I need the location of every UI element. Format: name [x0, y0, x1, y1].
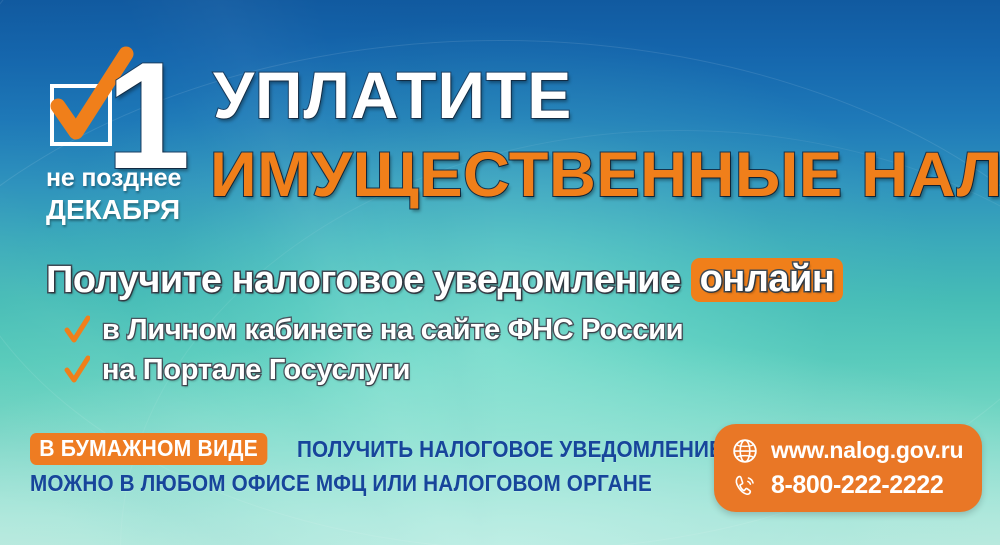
tax-payment-banner: 1 не позднее ДЕКАБРЯ УПЛАТИТЕ ИМУЩЕСТВЕН… [0, 0, 1000, 545]
online-highlight-badge: онлайн [691, 258, 844, 302]
online-channels-list: в Личном кабинете на сайте ФНС России на… [64, 312, 683, 392]
paper-notice-line-1: В БУМАЖНОМ ВИДЕ ПОЛУЧИТЬ НАЛОГОВОЕ УВЕДО… [30, 432, 670, 466]
deadline-line-2: ДЕКАБРЯ [46, 194, 180, 226]
deadline-block: 1 не позднее ДЕКАБРЯ [44, 52, 234, 232]
website-url[interactable]: www.nalog.gov.ru [771, 437, 963, 464]
paper-notice-line-1-text: ПОЛУЧИТЬ НАЛОГОВОЕ УВЕДОМЛЕНИЕ [297, 438, 723, 461]
phone-call-icon [732, 473, 758, 499]
list-item: на Портале Госуслуги [64, 352, 683, 388]
website-row[interactable]: www.nalog.gov.ru [732, 433, 982, 468]
globe-icon [732, 438, 758, 464]
phone-number[interactable]: 8-800-222-2222 [771, 471, 943, 500]
paper-notice-line-2: МОЖНО В ЛЮБОМ ОФИСЕ МФЦ ИЛИ НАЛОГОВОМ ОР… [30, 466, 670, 500]
deadline-line-1: не позднее [46, 164, 181, 193]
headline-line-1: УПЛАТИТЕ [213, 62, 572, 128]
paper-notice-line-2-text: МОЖНО В ЛЮБОМ ОФИСЕ МФЦ ИЛИ НАЛОГОВОМ ОР… [30, 472, 652, 495]
list-item: в Личном кабинете на сайте ФНС России [64, 312, 683, 348]
paper-form-badge: В БУМАЖНОМ ВИДЕ [30, 433, 267, 465]
paper-notice-block: В БУМАЖНОМ ВИДЕ ПОЛУЧИТЬ НАЛОГОВОЕ УВЕДО… [30, 432, 670, 500]
phone-row[interactable]: 8-800-222-2222 [732, 468, 982, 503]
headline-line-2: ИМУЩЕСТВЕННЫЕ НАЛОГИ [210, 144, 1000, 207]
online-notice-title-text: Получите налоговое уведомление [46, 260, 681, 300]
contact-card: www.nalog.gov.ru 8-800-222-2222 [714, 424, 982, 512]
checkmark-icon [64, 315, 90, 345]
checkmark-icon [64, 355, 90, 385]
online-notice-title: Получите налоговое уведомление онлайн [46, 258, 843, 302]
checkbox-graphic [50, 84, 112, 146]
list-item-label: в Личном кабинете на сайте ФНС России [102, 314, 683, 347]
list-item-label: на Портале Госуслуги [102, 354, 410, 387]
